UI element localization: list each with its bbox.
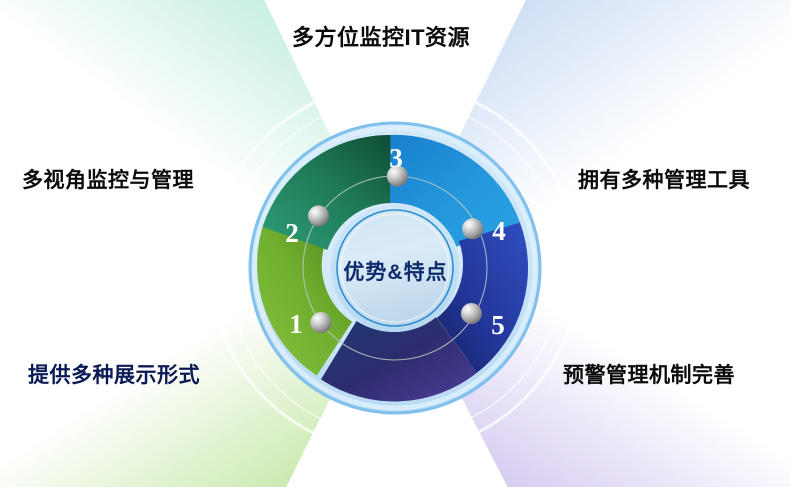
label-top-right: 拥有多种管理工具 <box>578 170 750 191</box>
label-top: 多方位监控IT资源 <box>292 27 470 49</box>
segment-3-number: 3 <box>389 143 403 173</box>
pentagon-wheel: 1 2 3 4 5 <box>0 0 791 487</box>
label-bottom-right: 预警管理机制完善 <box>563 365 735 386</box>
infographic-stage: 1 2 3 4 5 多方位监控IT资源 多视角监控与管理 拥有多种管理工具 提供… <box>0 0 791 487</box>
marker-1[interactable] <box>310 312 331 333</box>
label-bottom-left: 提供多种展示形式 <box>28 365 200 386</box>
center-disc <box>337 210 453 326</box>
segment-4-number: 4 <box>492 216 506 246</box>
marker-2[interactable] <box>308 205 329 226</box>
segment-1-number: 1 <box>289 309 303 339</box>
segment-2-number: 2 <box>285 218 299 248</box>
segment-5-number: 5 <box>491 310 505 340</box>
label-top-left: 多视角监控与管理 <box>22 170 194 191</box>
marker-4[interactable] <box>462 218 483 239</box>
marker-5[interactable] <box>461 303 482 324</box>
